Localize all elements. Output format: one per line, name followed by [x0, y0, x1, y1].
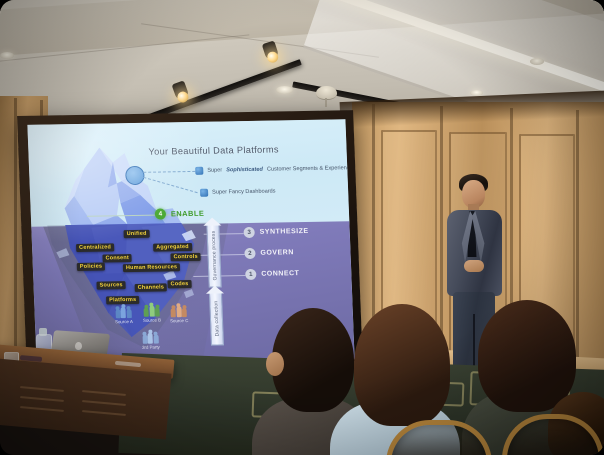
step-row-3: 3 SYNTHESIZE [243, 226, 308, 238]
iceberg-tag: Sources [96, 281, 125, 290]
data-collection-arrow: Data collection [209, 291, 224, 345]
iceberg-tag: Consent [102, 254, 132, 263]
source-label: Source A [115, 319, 133, 324]
source-group-c: Source C [169, 306, 188, 323]
step-badge-1: 1 [245, 269, 256, 280]
step-label-connect: CONNECT [261, 270, 299, 278]
annotation-icon [195, 167, 203, 175]
iceberg-tag: Controls [170, 253, 201, 262]
source-label: Source C [170, 318, 189, 323]
presenter-hands [464, 260, 484, 272]
iceberg-tag: Aggregated [153, 243, 192, 252]
arrow-label-governance: Governance process [210, 231, 218, 281]
source-group-b: Source B [142, 306, 161, 323]
governance-process-arrow: Governance process [206, 223, 221, 287]
source-group-a: Source A [114, 307, 132, 324]
iceberg-tag: Human Resources [123, 263, 181, 272]
annotation-text-lead: Super Fancy Dashboards [212, 189, 276, 196]
annotation-text-lead: Super [207, 167, 222, 173]
third-party-group: 3rd Party [141, 333, 159, 350]
step-badge-3: 3 [243, 227, 254, 238]
recessed-downlight [0, 52, 14, 59]
iceberg-tag: Unified [123, 230, 149, 239]
annotation-row: Super Fancy Dashboards [200, 188, 276, 197]
step-badge-2: 2 [244, 248, 255, 259]
step-label-govern: GOVERN [260, 249, 294, 257]
iceberg-tag: Policies [77, 262, 106, 271]
step-label-enable: ENABLE [171, 209, 205, 219]
step-badge-4: 4 [155, 208, 166, 219]
smoke-detector-icon [316, 86, 337, 100]
enable-step-row: 4 ENABLE [155, 208, 205, 220]
screenshot-root: Your Beautiful Data Platforms Super Soph… [0, 0, 604, 455]
side-table-front [0, 358, 172, 439]
annotation-text-emphasis: Sophisticated [226, 167, 263, 174]
annotation-text-tail: Customer Segments & Experiences [267, 165, 355, 173]
attendee-hair [478, 300, 576, 412]
step-row-1: 1 CONNECT [245, 268, 300, 280]
attendee-ear [266, 352, 284, 376]
iceberg-tag: Codes [167, 280, 191, 289]
third-party-label: 3rd Party [142, 345, 160, 350]
attendee-hair [272, 308, 354, 412]
wood-seam [14, 98, 17, 374]
arrow-label-data-collection: Data collection [213, 301, 220, 337]
iceberg-tag: Channels [135, 283, 168, 292]
wood-seam [576, 110, 579, 368]
source-label: Source B [143, 318, 161, 323]
step-row-2: 2 GOVERN [244, 247, 294, 259]
recessed-downlight [276, 86, 293, 94]
annotation-icon [200, 189, 208, 197]
step-label-synthesize: SYNTHESIZE [260, 228, 309, 236]
iceberg-tag: Centralized [76, 243, 114, 252]
recessed-downlight [530, 58, 544, 65]
attendee-hair [354, 304, 450, 426]
